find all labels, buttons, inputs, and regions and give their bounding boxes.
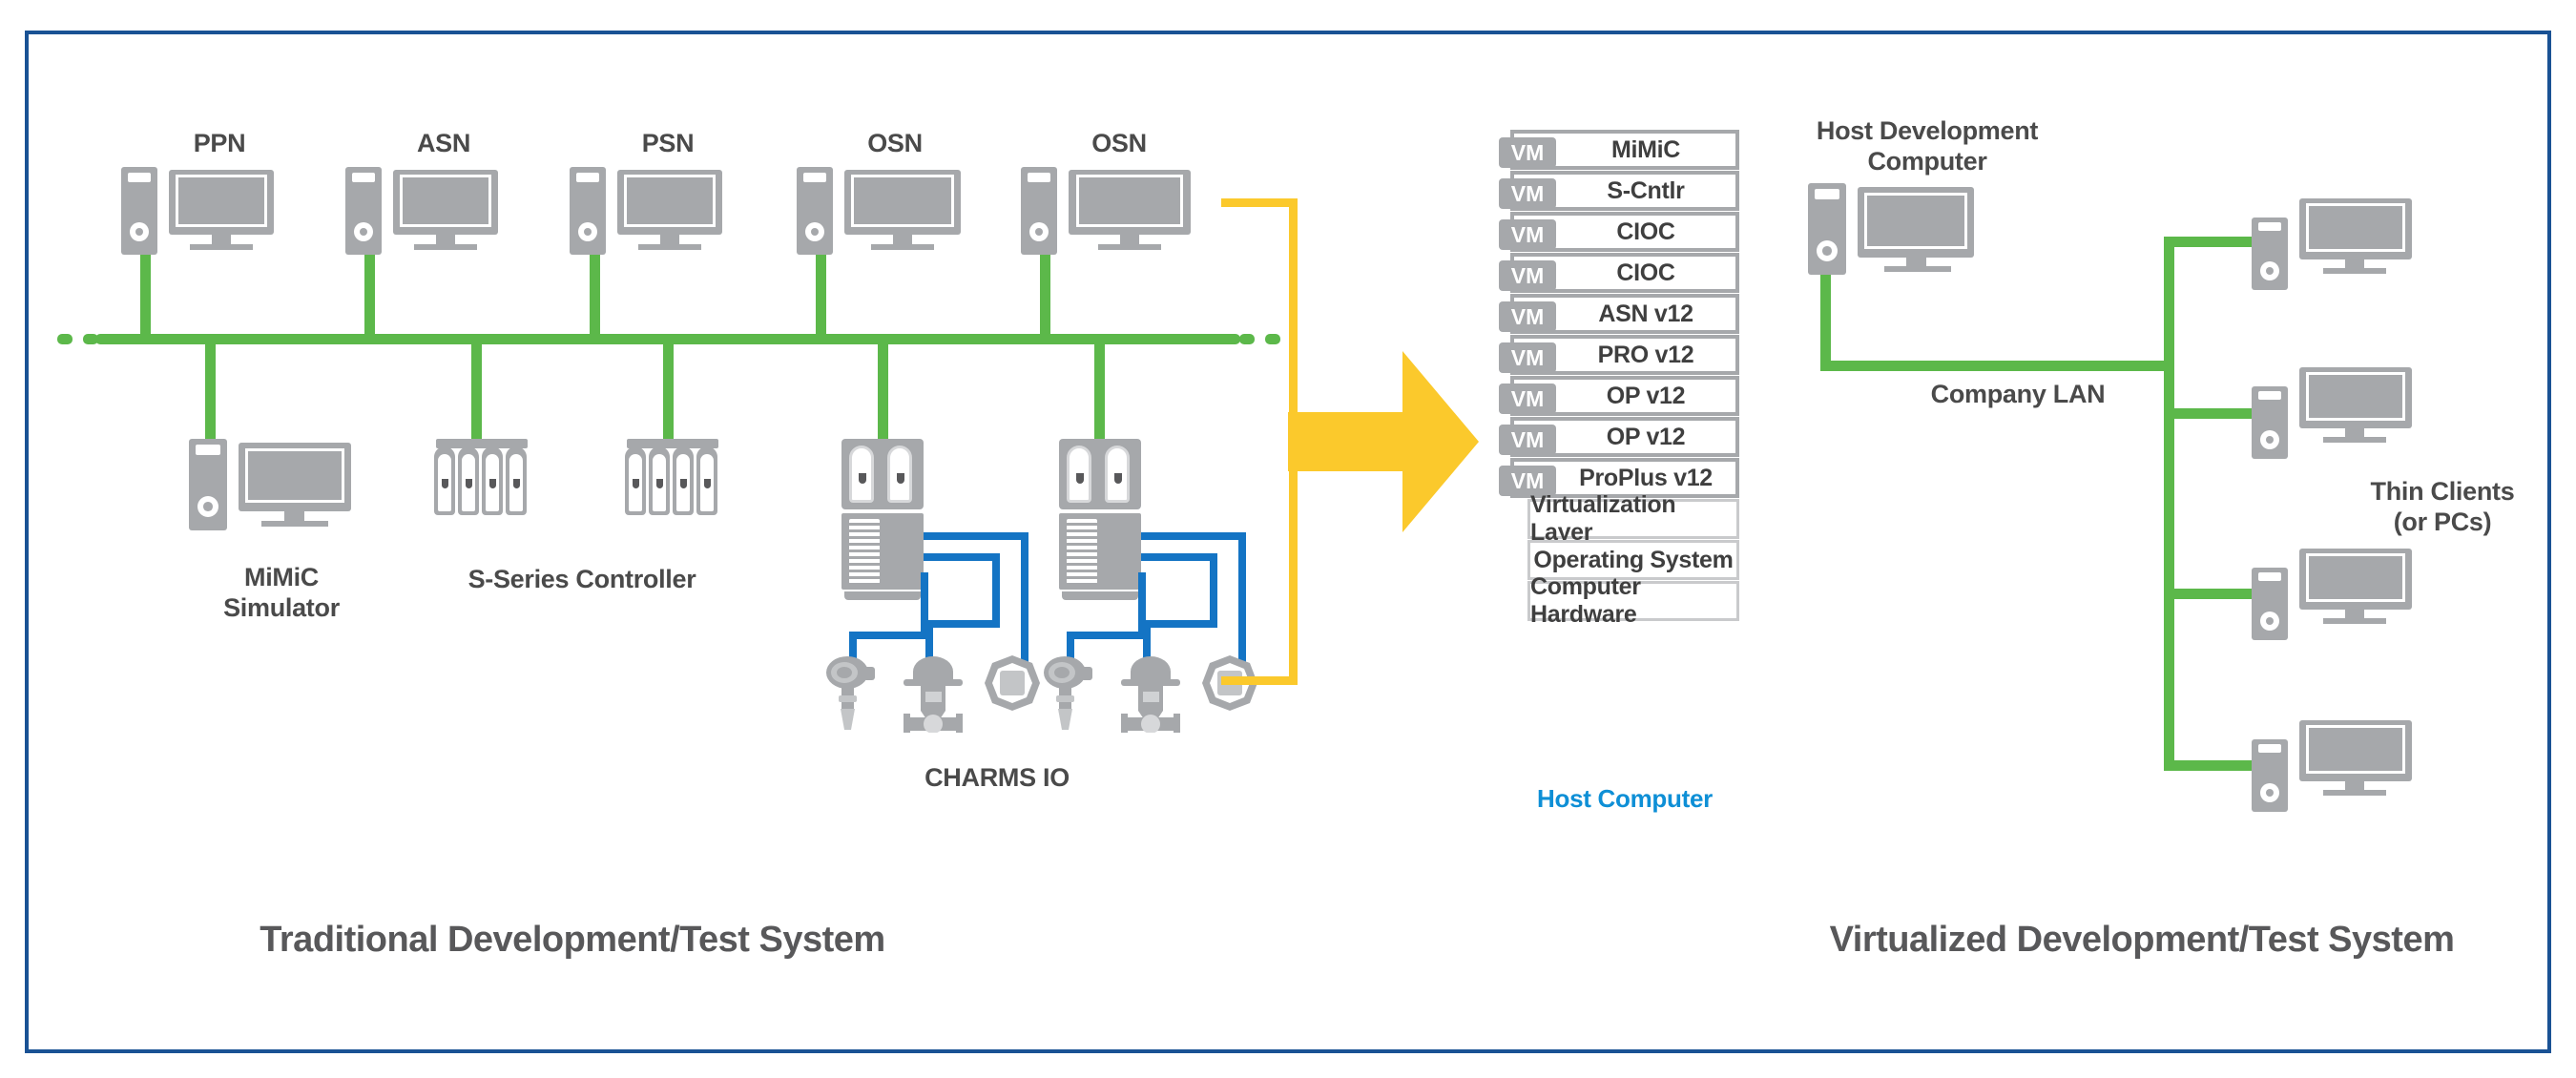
control-valve-icon-1: [892, 651, 974, 733]
io-wire-1a: [924, 532, 1028, 540]
io-wire-1b-v: [992, 553, 1000, 628]
io-wire-1c-v: [921, 572, 928, 639]
vm-badge: VM: [1499, 178, 1556, 209]
node-label-s-series-controller: S-Series Controller: [458, 565, 706, 595]
node-label-mimic-simulator: MiMiC Simulator: [205, 563, 358, 624]
node-label-asn: ASN: [372, 129, 515, 159]
vm-label: CIOC: [1574, 218, 1674, 246]
vm-row[interactable]: VM CIOC: [1510, 253, 1739, 293]
io-wire-1c-h: [849, 632, 925, 639]
drop-charms-1: [878, 339, 888, 439]
drop-charms-2: [1094, 339, 1105, 439]
right-panel-title: Virtualized Development/Test System: [1760, 919, 2524, 962]
computer-icon-thin-client-3: [2162, 549, 2343, 639]
host-layer-row: Computer Hardware: [1527, 581, 1739, 621]
transition-bracket-top: [1221, 198, 1298, 207]
computer-icon-asn: [345, 167, 517, 258]
company-lan-label: Company LAN: [1908, 380, 2128, 410]
host-computer-caption: Host Computer: [1510, 784, 1739, 814]
vm-badge: VM: [1499, 384, 1556, 414]
vm-badge: VM: [1499, 219, 1556, 250]
lan-spine: [2164, 237, 2174, 771]
vm-row[interactable]: VM ASN v12: [1510, 294, 1739, 334]
vm-label: OP v12: [1565, 424, 1686, 451]
vm-row[interactable]: VM PRO v12: [1510, 335, 1739, 375]
computer-icon-osn-1: [797, 167, 983, 258]
node-label-osn-2: OSN: [1048, 129, 1191, 159]
charms-io-icon-2: [1059, 439, 1145, 603]
vm-row[interactable]: VM S-Cntlr: [1510, 171, 1739, 211]
computer-icon-psn: [570, 167, 741, 258]
vm-badge: VM: [1499, 301, 1556, 332]
computer-icon-thin-client-4: [2162, 720, 2343, 811]
transmitter-icon-2: [1036, 653, 1105, 730]
drop-osn-2: [1040, 253, 1050, 339]
vm-label: MiMiC: [1569, 136, 1680, 164]
computer-icon-host-development: [1808, 183, 1999, 279]
io-wire-2c-v: [1138, 572, 1146, 639]
node-label-psn: PSN: [596, 129, 739, 159]
io-wire-2c-h: [1067, 632, 1143, 639]
drop-sseries-1: [471, 339, 482, 439]
transmitter-icon-1: [819, 653, 887, 730]
io-wire-2b-v: [1210, 553, 1217, 628]
lan-wire-host-vertical: [1820, 275, 1831, 370]
vm-row[interactable]: VM OP v12: [1510, 417, 1739, 457]
vm-row[interactable]: VM OP v12: [1510, 376, 1739, 416]
network-bus-dashes-left: [57, 334, 124, 344]
io-wire-1b: [924, 553, 1000, 561]
io-wire-2a: [1141, 532, 1246, 540]
vm-badge: VM: [1499, 342, 1556, 373]
vm-badge: VM: [1499, 137, 1556, 168]
vm-row[interactable]: VM CIOC: [1510, 212, 1739, 252]
transition-arrow-icon: [1288, 351, 1479, 537]
control-valve-icon-2: [1110, 651, 1192, 733]
host-development-computer-label: Host Development Computer: [1789, 116, 2066, 177]
drop-mimic: [205, 339, 216, 439]
host-layer-label: Operating System: [1533, 547, 1733, 574]
vm-label: PRO v12: [1556, 342, 1694, 369]
computer-icon-thin-client-2: [2162, 367, 2343, 458]
left-panel-title: Traditional Development/Test System: [153, 919, 992, 962]
drop-sseries-2: [663, 339, 674, 439]
vm-badge: VM: [1499, 260, 1556, 291]
vm-label: OP v12: [1565, 383, 1686, 410]
lan-wire-host-horizontal: [1820, 361, 2173, 371]
drop-osn-1: [816, 253, 826, 339]
vm-label: S-Cntlr: [1565, 177, 1684, 205]
drop-asn: [364, 253, 375, 339]
diagram-canvas: PPN ASN PSN OSN: [0, 0, 2576, 1078]
network-bus-dashes-right: [1214, 334, 1280, 344]
computer-icon-osn-2: [1021, 167, 1212, 258]
controller-icon-s-series-2: [625, 439, 720, 527]
thin-clients-label: Thin Clients (or PCs): [2318, 477, 2566, 538]
drop-ppn: [140, 253, 151, 339]
charms-io-icon-1: [841, 439, 927, 603]
drop-psn: [590, 253, 600, 339]
transition-bracket-bottom: [1221, 676, 1298, 685]
junction-box-icon-1: [983, 653, 1042, 713]
io-wire-2b: [1141, 553, 1217, 561]
vm-row[interactable]: VM MiMiC: [1510, 130, 1739, 170]
computer-icon-thin-client-1: [2162, 198, 2343, 289]
controller-icon-s-series-1: [434, 439, 530, 527]
host-layer-row: Virtualization Layer: [1527, 499, 1739, 539]
io-wire-1b-h2: [925, 620, 1000, 628]
computer-icon-ppn: [121, 167, 293, 258]
io-wire-2b-h2: [1143, 620, 1217, 628]
vm-badge: VM: [1499, 425, 1556, 455]
vm-stack: VM MiMiC VM S-Cntlr VM CIOC VM CIOC VM A…: [1510, 130, 1739, 622]
host-layer-label: Virtualization Layer: [1530, 491, 1736, 547]
vm-label: ASN v12: [1556, 301, 1693, 328]
vm-label: CIOC: [1574, 259, 1674, 287]
node-label-ppn: PPN: [148, 129, 291, 159]
node-label-osn-1: OSN: [823, 129, 966, 159]
node-label-charms-io: CHARMS IO: [902, 763, 1092, 794]
host-layer-label: Computer Hardware: [1530, 573, 1736, 629]
vm-label: ProPlus v12: [1537, 465, 1713, 492]
computer-icon-mimic: [189, 439, 370, 534]
